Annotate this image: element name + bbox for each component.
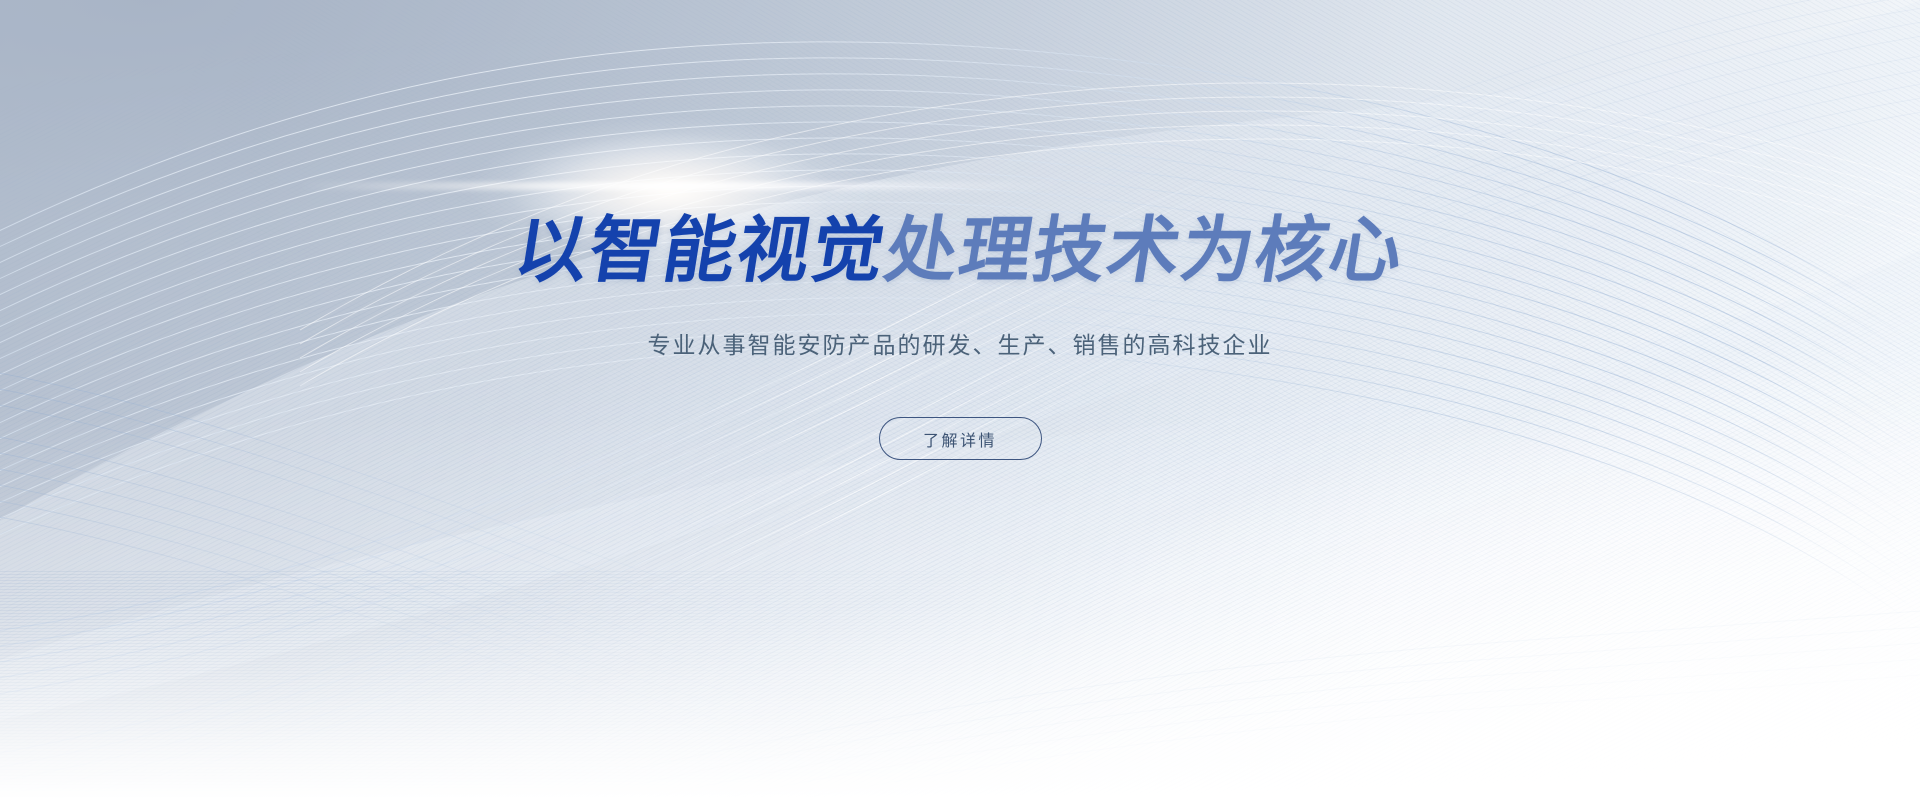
hero-banner: 以智能视觉处理技术为核心 专业从事智能安防产品的研发、生产、销售的高科技企业 了… xyxy=(0,0,1920,800)
learn-more-button[interactable]: 了解详情 xyxy=(879,417,1042,460)
hero-content: 以智能视觉处理技术为核心 专业从事智能安防产品的研发、生产、销售的高科技企业 了… xyxy=(0,0,1920,800)
hero-subtitle: 专业从事智能安防产品的研发、生产、销售的高科技企业 xyxy=(648,330,1273,362)
hero-headline-primary: 以智能视觉 xyxy=(509,208,892,292)
hero-headline-secondary: 处理技术为核心 xyxy=(879,208,1410,292)
hero-headline: 以智能视觉处理技术为核心 xyxy=(510,214,1409,286)
